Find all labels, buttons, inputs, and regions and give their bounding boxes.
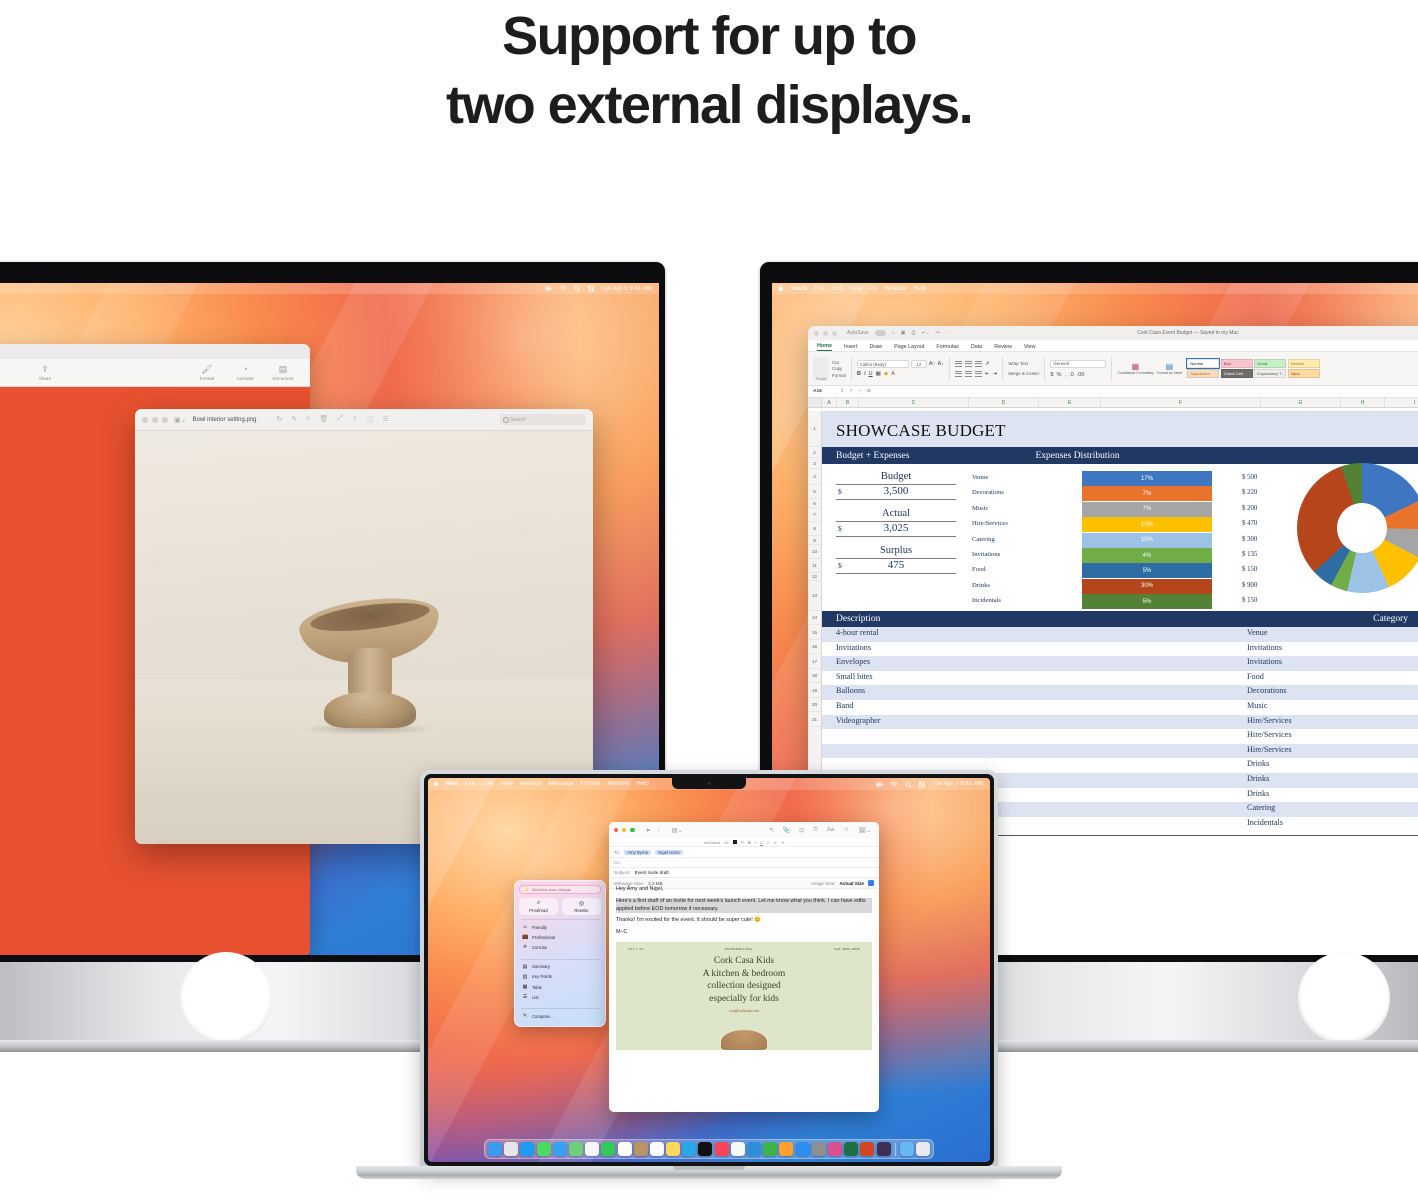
window-traffic-lights[interactable] xyxy=(142,417,168,423)
column-g[interactable]: G xyxy=(1261,398,1341,407)
preview-toolbar-icons[interactable]: ↻ ✎ ⌕ 🗑 ⤢ ⇪ ⓘ ☰ xyxy=(277,415,389,425)
line-item-description: Videographer xyxy=(836,716,881,725)
print-icon[interactable]: ⎙ xyxy=(911,330,915,336)
search-icon[interactable] xyxy=(904,781,912,788)
increase-indent-icon[interactable]: ⇥ xyxy=(993,371,998,377)
attach-icon[interactable]: 📎 xyxy=(783,827,790,834)
zoom-icon[interactable]: ⌕ xyxy=(306,415,310,425)
left-menubar-clock[interactable]: Tue Apr 1 9:41 AM xyxy=(601,286,652,292)
table-row[interactable]: 4-hour rentalVenue xyxy=(822,627,1418,642)
distribution-label-0: Venue xyxy=(972,474,988,481)
dock-icon-downloads[interactable] xyxy=(900,1142,914,1156)
share-icon[interactable]: ⇪ xyxy=(352,415,358,425)
distribution-label-1: Decorations xyxy=(972,489,1004,496)
mail-subject-label: Subject: xyxy=(614,870,631,875)
excel-formula-bar[interactable]: A16 ⇕ ✕ ✓ fx xyxy=(808,386,1418,398)
photo-icon[interactable]: 🖼⌄ xyxy=(858,827,871,834)
dock-icon-slack[interactable] xyxy=(876,1142,890,1156)
name-box[interactable]: A16 xyxy=(813,389,835,394)
dock-icon-keynote[interactable] xyxy=(747,1142,761,1156)
apple-icon[interactable] xyxy=(778,285,784,292)
fill-color-icon[interactable]: ◆ xyxy=(884,371,888,377)
right-menu-view[interactable]: View xyxy=(849,286,862,292)
tone-professional[interactable]: 💼Professional xyxy=(515,932,605,942)
line-item-category: Drinks xyxy=(1247,774,1269,783)
excel-ribbon-tabs[interactable]: Home Insert Draw Page Layout Formulas Da… xyxy=(808,340,1418,352)
cell-styles-gallery[interactable]: Normal Bad Good Neutral Calculation Chec… xyxy=(1187,359,1320,379)
increase-font-icon[interactable]: A↑ xyxy=(929,361,936,367)
align-center-icon[interactable] xyxy=(965,371,972,377)
mac-menu-view[interactable]: View xyxy=(500,781,513,787)
dock-icon-settings[interactable] xyxy=(812,1142,826,1156)
mail-cc-row[interactable]: Cc: xyxy=(609,858,879,868)
list-bullet-icon[interactable]: •≡ xyxy=(773,840,777,845)
underline-button[interactable]: U xyxy=(760,840,763,845)
concise-icon: ✛ xyxy=(522,944,528,950)
dock-icon-powerpoint[interactable] xyxy=(860,1142,874,1156)
style-calculation[interactable]: Calculation xyxy=(1187,369,1219,378)
summary-icon: ▤ xyxy=(522,964,528,970)
writing-tools-tones[interactable]: ☺Friendly 💼Professional ✛Concise xyxy=(515,922,605,957)
mail-font-size[interactable]: 16 xyxy=(724,840,728,845)
style-bad[interactable]: Bad xyxy=(1221,359,1253,368)
table-row[interactable]: VideographerHire/Services xyxy=(822,715,1418,730)
decrease-indent-icon[interactable]: ⇤ xyxy=(985,371,990,377)
minimize-icon[interactable] xyxy=(152,417,158,423)
dock-icon-app-store[interactable] xyxy=(796,1142,810,1156)
conditional-formatting-icon[interactable]: ▦ xyxy=(1132,362,1140,371)
invite-card: JUL 1 25 INTRODUCING SAT 4PM–6PM Cork Ca… xyxy=(616,942,872,1050)
row-header-3[interactable]: 3 xyxy=(808,458,821,469)
tab-formulas[interactable]: Formulas xyxy=(936,344,958,351)
mail-to-label: To: xyxy=(614,850,620,855)
undo-icon[interactable]: ↩⌄ xyxy=(921,330,929,336)
recipient-chip-2[interactable]: Nigel Hicks xyxy=(655,850,683,855)
save-icon[interactable]: ▣ xyxy=(901,330,906,336)
style-neutral[interactable]: Neutral xyxy=(1288,359,1320,368)
align-bottom-icon[interactable] xyxy=(975,361,982,367)
row-header-11[interactable]: 11 xyxy=(808,559,821,573)
row-header-21[interactable]: 21 xyxy=(808,712,821,727)
format-summary-label: Summary xyxy=(532,964,550,969)
excel-titlebar[interactable]: AutoSave ⌂ ▣ ⎙ ↩⌄ ↪ ⋯ Cork Casa Event Bu… xyxy=(808,326,1418,340)
dock-icon-messages[interactable] xyxy=(537,1142,551,1156)
minimize-icon[interactable] xyxy=(622,828,626,832)
mail-to-row[interactable]: To: Amy Byrne Nigel Hicks xyxy=(609,847,879,858)
conditional-formatting-label: Conditional Formatting xyxy=(1117,372,1153,376)
apple-icon[interactable] xyxy=(434,781,439,787)
close-icon[interactable] xyxy=(614,828,618,832)
left-menubar-status[interactable]: Tue Apr 1 9:41 AM xyxy=(545,285,659,292)
writing-tools-formats[interactable]: ▤Summary ▥Key Points ▦Table ☰List xyxy=(515,962,605,1007)
column-i[interactable]: I xyxy=(1385,398,1418,407)
select-all-corner[interactable] xyxy=(808,398,822,407)
sidebar-icon[interactable]: ▣⌄ xyxy=(174,416,186,424)
mac-menu-file[interactable]: File xyxy=(465,781,475,787)
excel-ribbon[interactable]: Paste Cut Copy Format Calibri (Body) 12 … xyxy=(808,352,1418,386)
format-summary[interactable]: ▤Summary xyxy=(515,962,605,972)
rotate-icon[interactable]: ↻ xyxy=(277,415,283,425)
currency-icon[interactable]: $ xyxy=(1050,372,1053,378)
ribbon-group-styles[interactable]: ▦ Conditional Formatting ▤ Format as Tab… xyxy=(1117,354,1182,384)
excel-quick-access[interactable]: AutoSave ⌂ ▣ ⎙ ↩⌄ ↪ ⋯ xyxy=(847,330,951,336)
mac-menu-message[interactable]: Message xyxy=(549,781,574,787)
compose-item[interactable]: ✎Compose… xyxy=(515,1011,605,1021)
copy-button[interactable]: Copy xyxy=(832,366,846,371)
markup-icon[interactable]: ✎ xyxy=(291,415,297,425)
row-header-20[interactable]: 20 xyxy=(808,698,821,712)
invite-bowl-illustration xyxy=(721,1030,767,1050)
keynote-tool-document[interactable]: ▤Document xyxy=(266,365,300,381)
bold-button[interactable]: B xyxy=(857,371,861,377)
tab-insert[interactable]: Insert xyxy=(844,344,857,351)
orientation-icon[interactable]: ⇗ xyxy=(985,361,990,367)
align-icon[interactable]: ≡ xyxy=(767,840,769,845)
dock-icon-news[interactable] xyxy=(731,1142,745,1156)
mac-menu-mailbox[interactable]: Mailbox xyxy=(520,781,541,787)
preview-titlebar[interactable]: ▣⌄ Bowl interior setting.png ↻ ✎ ⌕ 🗑 ⤢ ⇪… xyxy=(135,409,593,431)
align-left-icon[interactable] xyxy=(955,371,962,377)
distribution-bar-5: 4% xyxy=(1082,548,1212,563)
format-icon: 🖌 xyxy=(201,365,212,374)
line-item-description: Band xyxy=(836,701,853,710)
macbook-dock[interactable] xyxy=(484,1139,934,1159)
style-check-cell[interactable]: Check Cell xyxy=(1221,369,1253,378)
ribbon-group-font[interactable]: Calibri (Body) 12 A↑ A↓ B I U ▦ ◆ A xyxy=(857,354,944,384)
table-row[interactable]: Small bitesFood xyxy=(822,671,1418,686)
rewrite-icon: ◎ xyxy=(579,900,584,907)
format-table-label: Table xyxy=(532,985,542,990)
ribbon-group-alignment[interactable]: ⇗ ⇤ ⇥ xyxy=(955,354,997,384)
row-header-15[interactable]: 15 xyxy=(808,625,821,640)
dock-icon-finder[interactable] xyxy=(488,1142,502,1156)
keynote-tool-animate[interactable]: ◔Animate xyxy=(228,365,262,381)
row-header-2[interactable]: 2 xyxy=(808,447,821,458)
mac-menu-help[interactable]: Help xyxy=(636,781,649,787)
row-header-7[interactable]: 7 xyxy=(808,508,821,522)
macbook-base xyxy=(356,1166,1062,1179)
format-as-table-icon[interactable]: ▤ xyxy=(1166,362,1174,371)
distribution-amount-5: $ 135 xyxy=(1242,551,1257,558)
row-header-12[interactable]: 12 xyxy=(808,573,821,581)
row-header-18[interactable]: 18 xyxy=(808,669,821,683)
wrap-text-button[interactable]: Wrap Text xyxy=(1008,361,1028,366)
dock-icon-launchpad[interactable] xyxy=(504,1142,518,1156)
column-h[interactable]: H xyxy=(1341,398,1385,407)
highlight-icon[interactable]: ✎ xyxy=(741,840,744,845)
mail-format-bar[interactable]: Helvetica 16 ✎ B I U ≡ •≡ ⇥ xyxy=(609,838,879,847)
cut-button[interactable]: Cut xyxy=(832,360,846,365)
row-header-17[interactable]: 17 xyxy=(808,654,821,669)
distribution-label-6: Food xyxy=(972,566,986,573)
cancel-icon[interactable]: ✕ xyxy=(849,389,853,394)
right-menu-go[interactable]: Go xyxy=(869,286,877,292)
sparkle-icon: ✨ xyxy=(524,887,529,892)
distribution-amount-1: $ 220 xyxy=(1242,489,1257,496)
namebox-stepper-icon[interactable]: ⇕ xyxy=(840,389,844,394)
tab-review[interactable]: Review xyxy=(994,344,1012,351)
mail-subject-value[interactable]: Event invite draft xyxy=(635,870,669,875)
tab-home[interactable]: Home xyxy=(817,343,832,351)
right-menubar-apps[interactable]: Slack File Edit View Go Window Help xyxy=(772,285,926,292)
dock-icon-tv[interactable] xyxy=(698,1142,712,1156)
text-format-icon[interactable]: Aa xyxy=(827,827,834,834)
format-list[interactable]: ☰List xyxy=(515,992,605,1002)
row-header-8[interactable]: 8 xyxy=(808,522,821,536)
table-row[interactable]: InvitationsInvitations xyxy=(822,642,1418,657)
format-table[interactable]: ▦Table xyxy=(515,982,605,992)
mail-closing: Thanks! I'm excited for the event. It sh… xyxy=(616,917,872,925)
row-header-10[interactable]: 10 xyxy=(808,545,821,559)
keynote-tool-share[interactable]: ⇪Share xyxy=(28,365,62,381)
dock-icon-shortcuts[interactable] xyxy=(828,1142,842,1156)
writing-tools-panel[interactable]: ✨ Describe your change ⌕ Proofread ◎ Rew… xyxy=(514,880,606,1027)
dock-icon-safari[interactable] xyxy=(520,1142,534,1156)
dock-icon-freeform[interactable] xyxy=(682,1142,696,1156)
column-c[interactable]: C xyxy=(859,398,969,407)
format-painter-button[interactable]: Format xyxy=(832,373,846,378)
info-icon[interactable]: ⓘ xyxy=(367,415,374,425)
underline-button[interactable]: U xyxy=(869,371,873,377)
confirm-icon[interactable]: ✓ xyxy=(858,389,862,394)
invite-email: rsvp@corkcasa.com xyxy=(616,1009,872,1014)
excel-document-title[interactable]: Cork Casa Event Budget — Saved to my Mac xyxy=(1137,330,1238,336)
recipient-chip-1[interactable]: Amy Byrne xyxy=(624,850,651,855)
row-header-6[interactable]: 6 xyxy=(808,499,821,508)
resize-icon[interactable]: ⤢ xyxy=(337,415,343,425)
close-icon[interactable] xyxy=(142,417,148,423)
table-icon: ▦ xyxy=(522,984,528,990)
style-normal[interactable]: Normal xyxy=(1187,359,1219,368)
comma-icon[interactable]: , xyxy=(1064,372,1066,378)
line-item-category: Hire/Services xyxy=(1247,730,1292,739)
distribution-amount-0: $ 500 xyxy=(1242,474,1257,481)
line-item-description: Invitations xyxy=(836,643,871,652)
dock-icon-calendar[interactable] xyxy=(617,1142,631,1156)
mail-compose-window[interactable]: ➤ ⌄ ▤⌄ ↰ 📎 ⊡ ⏱ Aa ☺ 🖼⌄ Helvetica 1 xyxy=(609,822,879,1112)
italic-button[interactable]: I xyxy=(755,840,756,845)
right-menubar[interactable]: Slack File Edit View Go Window Help xyxy=(772,283,1418,294)
mac-menu-format[interactable]: Format xyxy=(581,781,601,787)
row-header-13[interactable]: 13 xyxy=(808,581,821,611)
column-a[interactable]: A xyxy=(822,398,837,407)
battery-icon[interactable] xyxy=(545,285,553,292)
writing-tools-input[interactable]: ✨ Describe your change xyxy=(519,885,601,894)
paste-button[interactable]: Paste xyxy=(813,357,829,381)
ribbon-group-wrap[interactable]: Wrap Text Merge & Center xyxy=(1008,354,1039,384)
rewrite-button[interactable]: ◎ Rewrite xyxy=(562,898,601,915)
send-icon[interactable]: ➤ xyxy=(646,827,651,834)
ribbon-group-clipboard[interactable]: Paste Cut Copy Format xyxy=(813,354,846,384)
right-menu-slack[interactable]: Slack xyxy=(791,286,807,292)
dock-icon-contacts[interactable] xyxy=(634,1142,648,1156)
style-input[interactable]: Input xyxy=(1288,369,1320,378)
percent-icon[interactable]: % xyxy=(1056,372,1061,378)
reply-icon[interactable]: ↰ xyxy=(769,827,774,834)
dock-icon-photos[interactable] xyxy=(585,1142,599,1156)
dock-icon-notes[interactable] xyxy=(666,1142,680,1156)
redo-icon[interactable]: ↪ xyxy=(936,330,940,336)
column-f[interactable]: F xyxy=(1101,398,1261,407)
excel-column-headers[interactable]: A B C D E F G H I J K xyxy=(808,398,1418,408)
keynote-toolbar[interactable]: 🖼Media 🗨Comment ⇪Share 🖌Format ◔Animate … xyxy=(0,359,310,387)
wifi-icon[interactable] xyxy=(559,285,567,292)
column-e[interactable]: E xyxy=(1039,398,1101,407)
clock-icon[interactable]: ⏱ xyxy=(813,827,818,834)
row-header-14[interactable]: 14 xyxy=(808,611,821,625)
distribution-amount-3: $ 470 xyxy=(1242,520,1257,527)
row-header-4[interactable]: 4 xyxy=(808,469,821,485)
dock-icon-trash[interactable] xyxy=(916,1142,930,1156)
line-item-category: Hire/Services xyxy=(1247,745,1292,754)
home-icon[interactable]: ⌂ xyxy=(892,330,895,336)
right-menu-edit[interactable]: Edit xyxy=(831,286,842,292)
font-name-select[interactable]: Calibri (Body) xyxy=(857,360,909,368)
dock-icon-excel[interactable] xyxy=(844,1142,858,1156)
line-item-category: Catering xyxy=(1247,803,1275,812)
borders-icon[interactable]: ▦ xyxy=(876,371,881,377)
dock-icon-mail[interactable] xyxy=(553,1142,567,1156)
template-icon[interactable]: ▤⌄ xyxy=(672,827,683,834)
row-header-5[interactable]: 5 xyxy=(808,485,821,499)
distribution-bar-7: 30% xyxy=(1082,579,1212,594)
row-header-19[interactable]: 19 xyxy=(808,683,821,698)
window-traffic-lights[interactable] xyxy=(614,828,635,832)
line-item-category: Food xyxy=(1247,672,1264,681)
wifi-icon[interactable] xyxy=(890,781,898,788)
decrease-font-icon[interactable]: A↓ xyxy=(937,361,944,367)
maximize-icon[interactable] xyxy=(162,417,168,423)
line-item-category: Invitations xyxy=(1247,643,1282,652)
markup-icon[interactable]: ⊡ xyxy=(799,827,804,834)
search-icon[interactable] xyxy=(573,285,581,292)
table-row[interactable]: BalloonsDecorations xyxy=(822,685,1418,700)
invite-time: SAT 4PM–6PM xyxy=(834,947,860,952)
dock-icon-maps[interactable] xyxy=(569,1142,583,1156)
right-menu-help[interactable]: Help xyxy=(913,286,926,292)
macbook-clock[interactable]: Tue Apr 1 9:41 AM xyxy=(932,781,983,787)
line-item-description: 4-hour rental xyxy=(836,628,879,637)
battery-icon[interactable] xyxy=(876,781,884,788)
table-row[interactable]: EnvelopesInvitations xyxy=(822,656,1418,671)
proofread-label: Proofread xyxy=(529,908,547,913)
control-center-icon[interactable] xyxy=(587,285,595,292)
right-menu-window[interactable]: Window xyxy=(885,286,907,292)
line-item-category: Incidentals xyxy=(1247,818,1283,827)
dock-icon-facetime[interactable] xyxy=(601,1142,615,1156)
align-right-icon[interactable] xyxy=(975,371,982,377)
macbook-menubar-status[interactable]: Tue Apr 1 9:41 AM xyxy=(876,781,990,788)
tone-friendly[interactable]: ☺Friendly xyxy=(515,922,605,932)
text-color-icon[interactable] xyxy=(733,840,737,844)
list-view-icon[interactable]: ☰ xyxy=(383,415,389,425)
dock-icon-pages[interactable] xyxy=(779,1142,793,1156)
function-icon[interactable]: fx xyxy=(867,389,871,394)
invite-headline-2: A kitchen & bedroom xyxy=(616,968,872,981)
format-key-points[interactable]: ▥Key Points xyxy=(515,972,605,982)
column-b[interactable]: B xyxy=(837,398,859,407)
decrease-decimal-icon[interactable]: .00 xyxy=(1077,372,1085,378)
tab-page-layout[interactable]: Page Layout xyxy=(894,344,924,351)
chevron-down-icon[interactable]: ⌄ xyxy=(657,827,661,833)
style-good[interactable]: Good xyxy=(1254,359,1286,368)
keynote-titlebar[interactable]: Deck Edited xyxy=(0,344,310,359)
keynote-tool-document-label: Document xyxy=(273,376,294,381)
window-traffic-lights[interactable] xyxy=(814,331,837,336)
line-item-description: Balloons xyxy=(836,686,865,695)
autosave-toggle[interactable] xyxy=(875,330,886,336)
mac-menu-window[interactable]: Window xyxy=(607,781,629,787)
bold-button[interactable]: B xyxy=(748,840,751,845)
font-size-select[interactable]: 12 xyxy=(911,360,927,368)
row-header-1[interactable]: 1 xyxy=(808,411,821,447)
tab-view[interactable]: View xyxy=(1024,344,1036,351)
right-menu-file[interactable]: File xyxy=(814,286,824,292)
mail-signature: M–C xyxy=(616,929,872,937)
list-icon: ☰ xyxy=(522,994,528,1000)
search-input[interactable]: Search xyxy=(500,414,586,425)
emoji-icon[interactable]: ☺ xyxy=(843,827,849,834)
align-top-icon[interactable] xyxy=(955,361,962,367)
macbook-bezel: Mail File Edit View Mailbox Message Form… xyxy=(424,774,994,1166)
proofread-button[interactable]: ⌕ Proofread xyxy=(519,898,558,915)
table-row[interactable]: Hire/Services xyxy=(822,744,1418,759)
maximize-icon[interactable] xyxy=(630,828,634,832)
dock-icon-numbers[interactable] xyxy=(763,1142,777,1156)
number-format-select[interactable]: General xyxy=(1050,360,1106,368)
trash-icon[interactable]: 🗑 xyxy=(319,415,328,425)
keynote-tool-format[interactable]: 🖌Format xyxy=(190,365,224,381)
mac-menu-mail[interactable]: Mail xyxy=(446,781,458,787)
indent-icon[interactable]: ⇥ xyxy=(781,840,784,845)
left-menubar[interactable]: Tue Apr 1 9:41 AM xyxy=(0,283,659,294)
tab-draw[interactable]: Draw xyxy=(869,344,882,351)
row-header-16[interactable]: 16 xyxy=(808,640,821,654)
distribution-bar-3: 10% xyxy=(1082,517,1212,532)
tone-concise[interactable]: ✛Concise xyxy=(515,942,605,952)
more-icon[interactable]: ⋯ xyxy=(946,330,951,336)
table-row[interactable]: Hire/Services xyxy=(822,729,1418,744)
mail-paragraph: Here's a first draft of an invite for ne… xyxy=(616,898,872,914)
row-header-9[interactable]: 9 xyxy=(808,536,821,545)
style-explanatory-text[interactable]: Explanatory T... xyxy=(1254,369,1286,378)
headline-line-1: Support for up to xyxy=(502,2,916,71)
mail-font-name[interactable]: Helvetica xyxy=(704,840,720,845)
mail-message-body[interactable]: Hey Amy and Nigel, Here's a first draft … xyxy=(609,880,879,1112)
autosave-label: AutoSave xyxy=(847,330,869,336)
mail-subject-row[interactable]: Subject: Event invite draft xyxy=(609,868,879,878)
mac-menu-edit[interactable]: Edit xyxy=(482,781,493,787)
line-item-description: Envelopes xyxy=(836,657,870,666)
ribbon-group-number[interactable]: General $ % , .0 .00 xyxy=(1050,354,1106,384)
italic-button[interactable]: I xyxy=(864,371,866,377)
dock-icon-music[interactable] xyxy=(715,1142,729,1156)
dock-icon-reminders[interactable] xyxy=(650,1142,664,1156)
friendly-icon: ☺ xyxy=(522,924,528,930)
font-color-icon[interactable]: A xyxy=(891,371,895,377)
tab-data[interactable]: Data xyxy=(971,344,982,351)
control-center-icon[interactable] xyxy=(918,781,926,788)
align-middle-icon[interactable] xyxy=(965,361,972,367)
format-key-points-label: Key Points xyxy=(532,974,552,979)
increase-decimal-icon[interactable]: .0 xyxy=(1069,372,1074,378)
distribution-label-8: Incidentals xyxy=(972,597,1001,604)
merge-center-button[interactable]: Merge & Center xyxy=(1008,371,1039,376)
table-row[interactable]: BandMusic xyxy=(822,700,1418,715)
column-d[interactable]: D xyxy=(969,398,1039,407)
invite-headline-3: collection designed xyxy=(616,980,872,993)
mail-toolbar[interactable]: ➤ ⌄ ▤⌄ ↰ 📎 ⊡ ⏱ Aa ☺ 🖼⌄ xyxy=(609,822,879,838)
